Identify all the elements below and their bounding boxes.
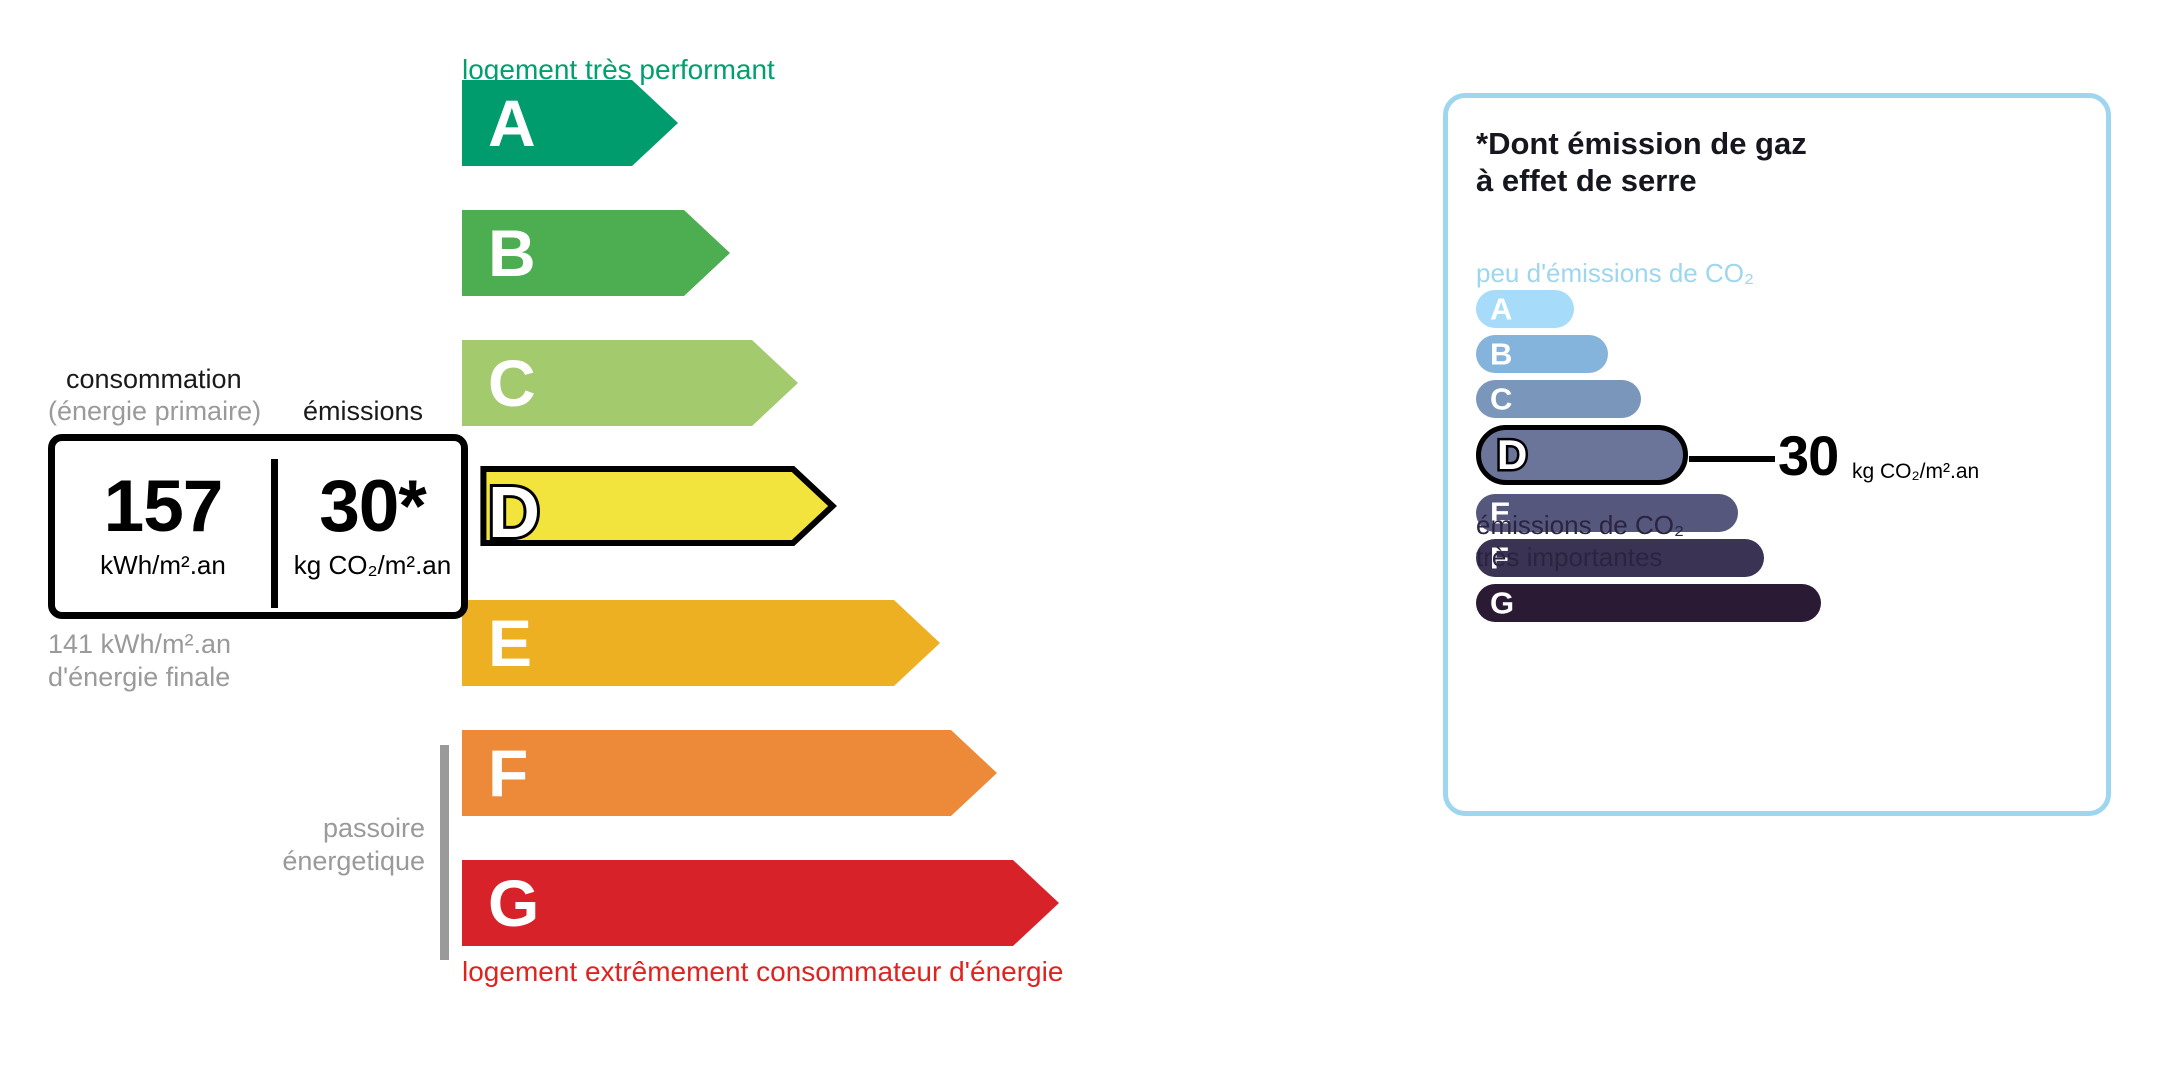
co2-callout-value: 30 [1778, 428, 1838, 484]
co2-grade-row-a: A [1476, 290, 2076, 328]
co2-emissions-panel: *Dont émission de gaz à effet de serre p… [1443, 93, 2111, 816]
co2-grade-bars: ABCDEFG [1476, 290, 2076, 629]
energy-grade-row-e: E [462, 600, 940, 686]
co2-title-line1: *Dont émission de gaz [1476, 126, 1807, 163]
co2-title-line2: à effet de serre [1476, 163, 1807, 200]
co2-grade-letter-a: A [1490, 294, 1512, 325]
passoire-energetique-label: passoire énergetique [180, 812, 425, 878]
consumption-label: consommation [66, 364, 242, 395]
co2-grade-row-g: G [1476, 584, 2076, 622]
co2-bottom-line1: émissions de CO₂ [1476, 510, 1684, 542]
energy-grade-row-g: G [462, 860, 1059, 946]
final-energy-line2: d'énergie finale [48, 661, 231, 694]
co2-grade-letter-d: D [1497, 434, 1527, 476]
co2-bottom-caption: émissions de CO₂ très importantes [1476, 510, 1684, 573]
co2-grade-letter-b: B [1490, 339, 1512, 370]
final-energy-line1: 141 kWh/m².an [48, 628, 231, 661]
emission-unit: kg CO₂/m².an [294, 550, 451, 581]
co2-bar-a: A [1476, 290, 1574, 328]
co2-bar-d: D [1476, 425, 1688, 485]
co2-bottom-line2: très importantes [1476, 542, 1684, 574]
energy-grade-letter-b: B [488, 220, 536, 286]
co2-panel-title: *Dont émission de gaz à effet de serre [1476, 126, 1807, 199]
energy-grade-row-d: D [462, 470, 868, 556]
energy-grade-row-f: F [462, 730, 997, 816]
energy-grade-row-b: B [462, 210, 730, 296]
energy-grade-row-c: C [462, 340, 798, 426]
co2-top-caption: peu d'émissions de CO₂ [1476, 258, 1754, 289]
energy-grade-letter-g: G [488, 870, 539, 936]
primary-energy-label: (énergie primaire) [48, 396, 261, 427]
consumption-value: 157 [104, 472, 223, 542]
energy-grade-letter-e: E [488, 610, 532, 676]
co2-grade-row-b: B [1476, 335, 2076, 373]
passoire-line2: énergetique [180, 845, 425, 878]
energy-arrow-shape-g [462, 860, 1059, 946]
emission-value: 30* [319, 472, 426, 542]
passoire-line1: passoire [180, 812, 425, 845]
energy-grade-letter-a: A [488, 90, 536, 156]
consumption-value-cell: 157 kWh/m².an [55, 441, 271, 612]
co2-grade-row-d: D [1476, 425, 2076, 485]
energy-grade-letter-d: D [488, 477, 540, 549]
co2-bar-b: B [1476, 335, 1608, 373]
co2-bar-c: C [1476, 380, 1641, 418]
co2-callout-leader-line [1689, 456, 1775, 462]
emission-value-cell: 30* kg CO₂/m².an [275, 441, 470, 612]
energy-performance-panel: logement très performant consommation (é… [0, 0, 1400, 1079]
energy-grade-letter-f: F [488, 740, 528, 806]
value-readout-box: 157 kWh/m².an 30* kg CO₂/m².an [48, 434, 468, 619]
energy-arrow-shape-f [462, 730, 997, 816]
passoire-bracket-bar [440, 745, 449, 960]
co2-callout-unit: kg CO₂/m².an [1852, 460, 1979, 484]
energy-grade-arrows: ABCDEFG [462, 0, 1252, 1079]
emissions-label: émissions [303, 396, 423, 427]
energy-grade-row-a: A [462, 80, 678, 166]
consumption-unit: kWh/m².an [100, 550, 226, 581]
energy-arrow-shape-e [462, 600, 940, 686]
co2-bar-g: G [1476, 584, 1821, 622]
co2-grade-letter-g: G [1490, 588, 1514, 619]
co2-grade-row-c: C [1476, 380, 2076, 418]
energy-scale-bottom-caption: logement extrêmement consommateur d'éner… [462, 956, 1063, 988]
co2-grade-letter-c: C [1490, 384, 1512, 415]
energy-grade-letter-c: C [488, 350, 536, 416]
final-energy-note: 141 kWh/m².an d'énergie finale [48, 628, 231, 694]
